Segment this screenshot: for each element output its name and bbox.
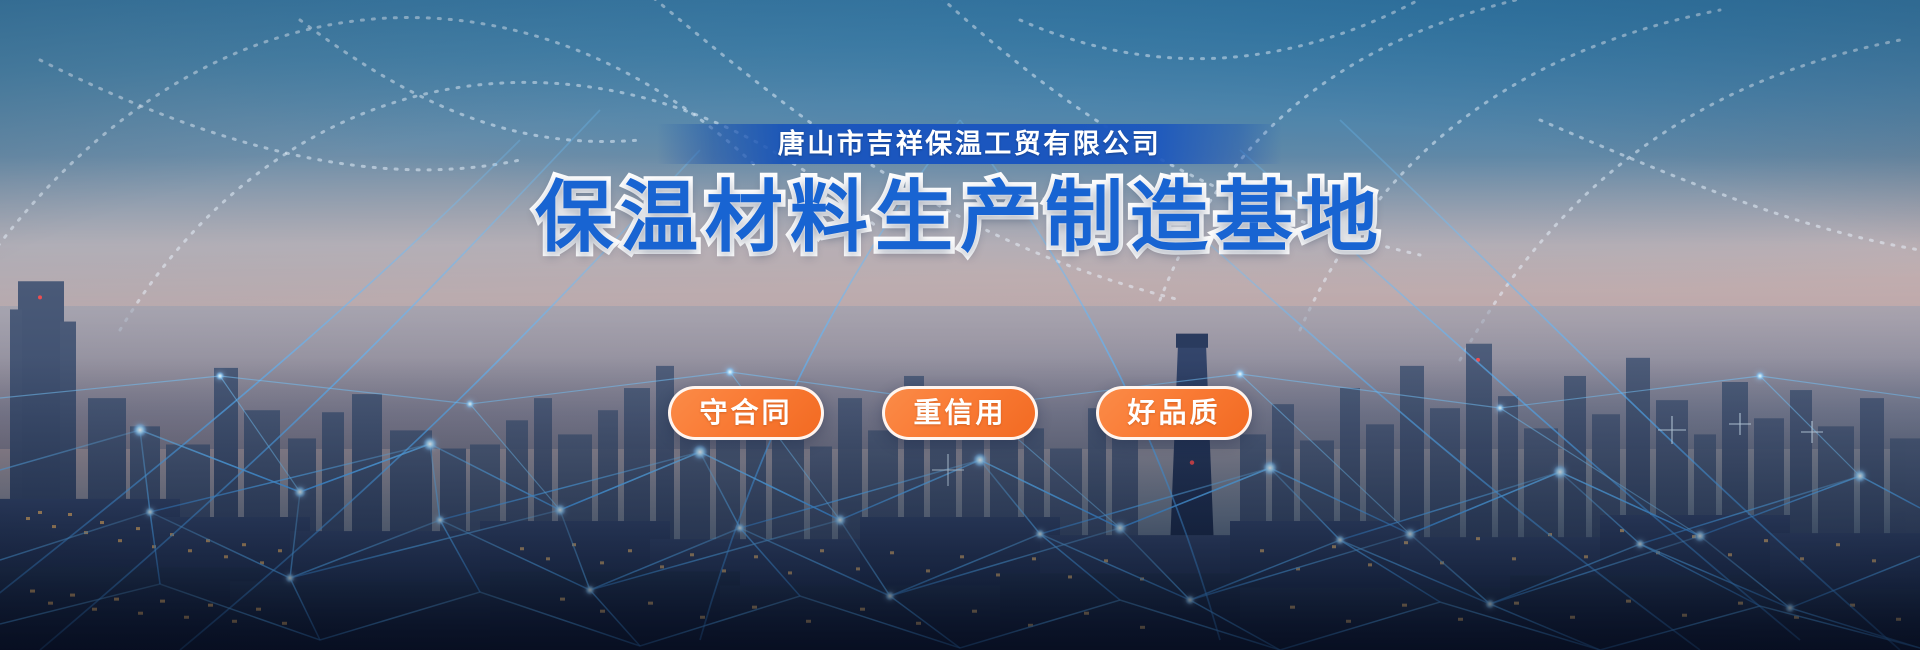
- badge-hao-pin-zhi[interactable]: 好品质: [1096, 386, 1252, 440]
- hero-banner: 唐山市吉祥保温工贸有限公司 保温材料生产制造基地 守合同 重信用 好品质: [0, 0, 1920, 650]
- badge-group: 守合同 重信用 好品质: [0, 386, 1920, 440]
- company-name-text: 唐山市吉祥保温工贸有限公司: [778, 131, 1162, 158]
- headline: 保温材料生产制造基地: [0, 178, 1920, 256]
- badge-label: 守合同: [699, 399, 792, 427]
- badge-label: 好品质: [1127, 399, 1220, 427]
- headline-text: 保温材料生产制造基地: [535, 178, 1385, 256]
- badge-shou-he-tong[interactable]: 守合同: [668, 386, 824, 440]
- badge-label: 重信用: [913, 399, 1006, 427]
- hero-content: 唐山市吉祥保温工贸有限公司 保温材料生产制造基地 守合同 重信用 好品质: [0, 0, 1920, 650]
- company-name-bar: 唐山市吉祥保温工贸有限公司: [657, 124, 1282, 164]
- badge-zhong-xin-yong[interactable]: 重信用: [882, 386, 1038, 440]
